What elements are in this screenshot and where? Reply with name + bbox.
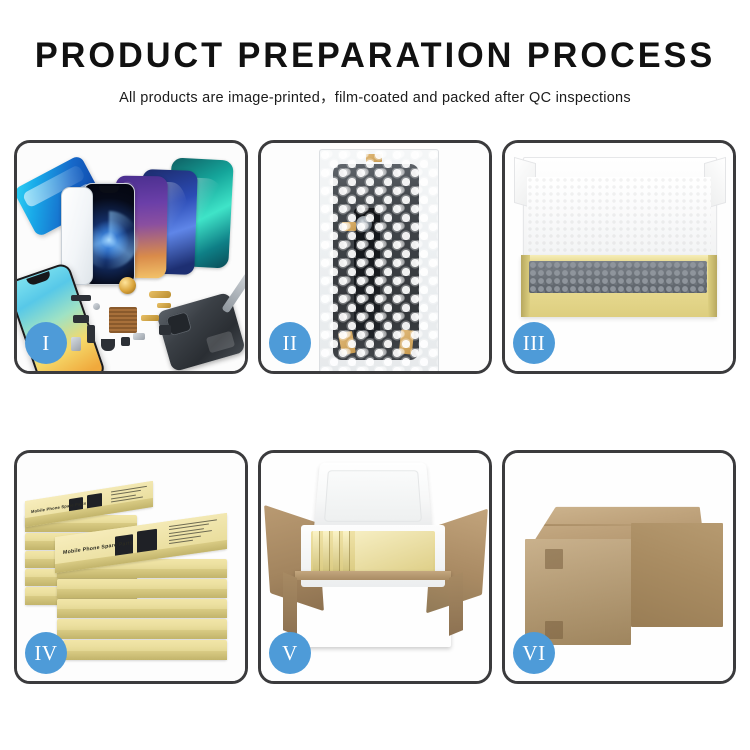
process-step-grid: I II: [14, 140, 736, 684]
process-step-panel-3[interactable]: III: [502, 140, 736, 374]
speaker-mesh-icon: [119, 277, 136, 294]
bubble-wrapped-contents-icon: [529, 261, 707, 293]
part-flex-gold-icon: [157, 303, 171, 308]
bubble-texture-icon: [320, 150, 438, 371]
process-step-panel-5[interactable]: V: [258, 450, 492, 684]
part-camera-icon: [159, 325, 171, 335]
part-screw-icon: [121, 337, 130, 346]
part-connector-icon: [71, 295, 91, 301]
phone-notch-icon: [26, 271, 51, 286]
box-side-icon: [708, 255, 717, 317]
stacked-box: [57, 619, 227, 639]
step-badge-3: III: [513, 322, 555, 364]
part-sim-tray-icon: [71, 337, 81, 351]
bubble-wrap-bag-icon: [319, 149, 439, 371]
part-taptic-icon: [101, 339, 115, 351]
carton-flap-icon: [283, 572, 297, 636]
part-screw-icon: [93, 303, 100, 310]
phone-notch-icon: [99, 186, 119, 193]
part-logic-board-icon: [109, 307, 137, 333]
spare-parts-scatter: [71, 281, 197, 371]
foam-sheet-icon: [527, 177, 711, 255]
wallpaper-burst-icon: [88, 219, 130, 261]
step-badge-6: VI: [513, 632, 555, 674]
part-bracket-icon: [73, 315, 89, 323]
step-badge-5: V: [269, 632, 311, 674]
step-badge-2: II: [269, 322, 311, 364]
process-step-panel-4[interactable]: Mobile Phone Spare Parts: [14, 450, 248, 684]
stacked-box: [57, 579, 227, 598]
carton-front-face-icon: [525, 539, 631, 645]
page-subtitle: All products are image-printed，film-coat…: [0, 86, 750, 107]
stacked-box: [63, 640, 227, 660]
carton-body-icon: [295, 571, 451, 647]
page-header: PRODUCT PREPARATION PROCESS All products…: [0, 0, 750, 107]
part-bracket-icon: [87, 325, 95, 343]
step-badge-1: I: [25, 322, 67, 364]
carton-tab-icon: [545, 549, 563, 569]
carton-flap-icon: [449, 572, 463, 636]
process-step-panel-6[interactable]: VI: [502, 450, 736, 684]
part-flex-gold-icon: [149, 291, 171, 298]
part-flex-gold-icon: [141, 315, 159, 321]
process-step-panel-2[interactable]: II: [258, 140, 492, 374]
step-badge-4: IV: [25, 632, 67, 674]
product-preparation-infographic: PRODUCT PREPARATION PROCESS All products…: [0, 0, 750, 750]
page-title: PRODUCT PREPARATION PROCESS: [8, 38, 743, 73]
stacked-box: [57, 599, 227, 618]
part-shield-icon: [133, 333, 145, 340]
process-step-panel-1[interactable]: I: [14, 140, 248, 374]
foam-lid-icon: [314, 463, 433, 532]
carton-right-face-icon: [631, 523, 723, 627]
